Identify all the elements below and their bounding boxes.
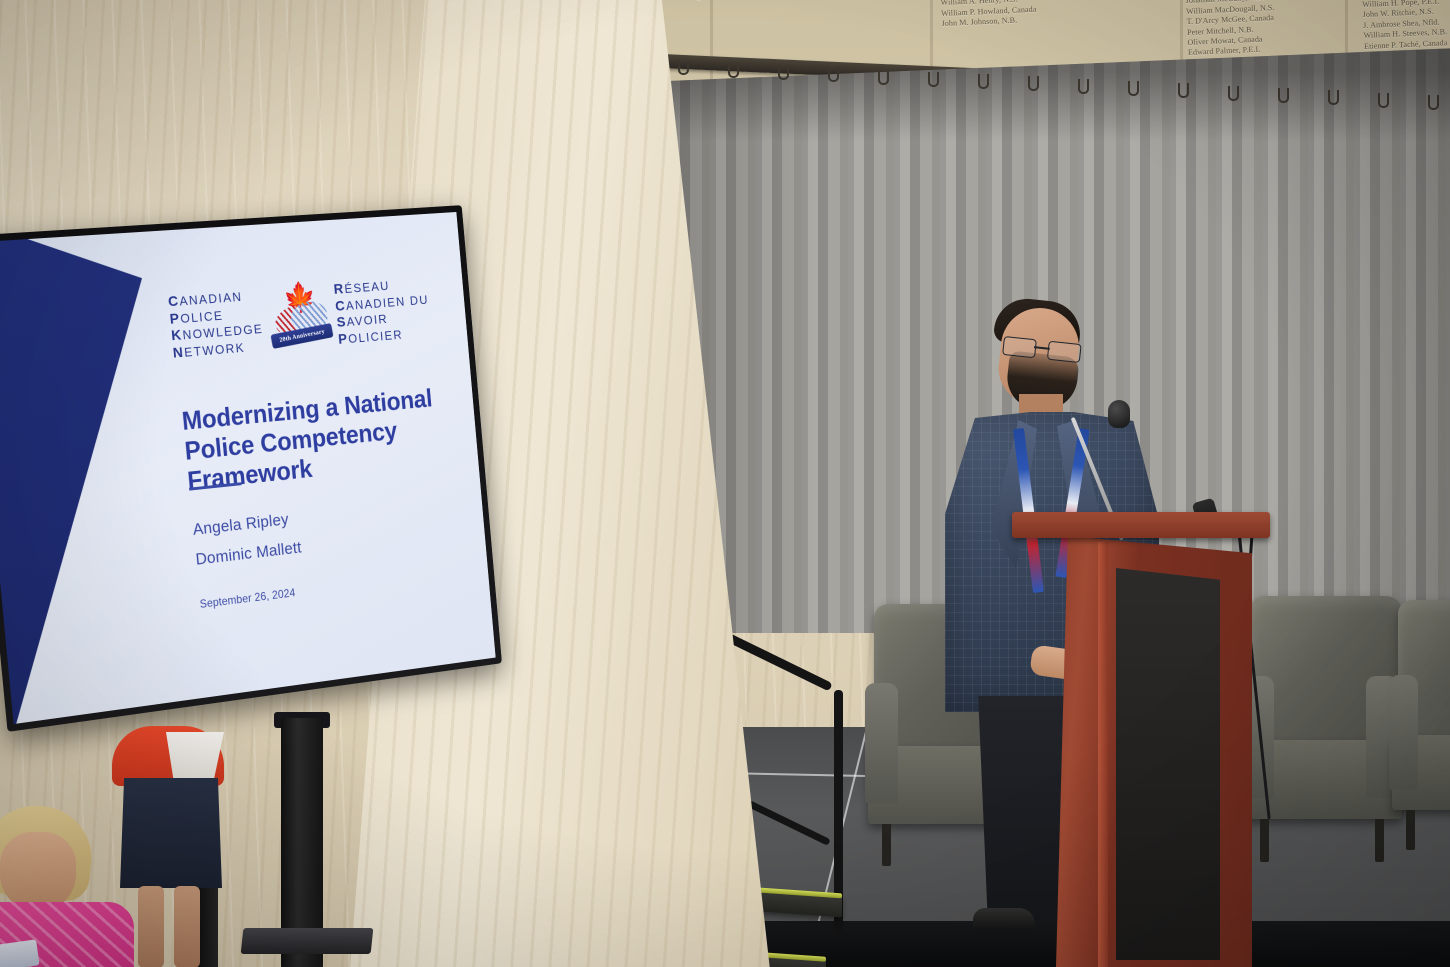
cpkn-logo-lockup: CANADIAN POLICE KNOWLEDGE NETWORK 🍁 20th…	[168, 276, 433, 363]
curtain-hook	[928, 72, 939, 87]
display-stand-shelf	[241, 928, 374, 954]
attendee-leg	[174, 886, 200, 967]
curtain-hook	[1278, 88, 1289, 103]
curtain-hook	[1128, 81, 1139, 96]
presentation-display[interactable]: CANADIAN POLICE KNOWLEDGE NETWORK 🍁 20th…	[0, 205, 502, 732]
wordmark-french: RÉSEAU CANADIEN DU SAVOIR POLICIER	[333, 276, 432, 349]
curtain-hook	[728, 63, 739, 78]
display-bezel: CANADIAN POLICE KNOWLEDGE NETWORK 🍁 20th…	[0, 205, 502, 732]
curtain-hook	[778, 65, 789, 80]
curtain-hook	[1378, 93, 1389, 108]
curtain-hook	[1328, 90, 1339, 105]
curtain-hook	[678, 60, 689, 75]
engraved-names-panel-1: George H. Coles, P. E. I.	[680, 0, 761, 2]
curtain-hook	[1078, 79, 1089, 94]
curtain-hook	[1028, 76, 1039, 91]
attendee-face	[0, 832, 76, 912]
curtain-hook	[1228, 86, 1239, 101]
wordmark-english: CANADIAN POLICE KNOWLEDGE NETWORK	[168, 288, 266, 363]
dress-shoe	[973, 908, 1035, 930]
curtain-hook	[828, 67, 839, 82]
conference-photo-scene: George H. Coles, P. E. I. T. Heath Havil…	[0, 0, 1450, 967]
curtain-hook	[1428, 95, 1439, 110]
anniversary-crest: 🍁 20th Anniversary	[268, 283, 330, 354]
curtain-hook	[1178, 83, 1189, 98]
attendee-leg	[138, 886, 164, 967]
slide-title: Modernizing a National Police Competency…	[181, 383, 451, 497]
foreground-attendee	[0, 806, 124, 967]
curtain-hook	[878, 70, 889, 85]
name-badge	[0, 939, 40, 967]
podium-edge	[1098, 542, 1108, 967]
engraved-names-panel-3: John A. Macdonald, P.E.I.Jonathan McCull…	[1185, 0, 1277, 59]
presentation-slide: CANADIAN POLICE KNOWLEDGE NETWORK 🍁 20th…	[0, 212, 496, 724]
armchair	[1392, 600, 1450, 850]
attendee-skirt	[120, 778, 222, 888]
curtain-hook	[978, 74, 989, 89]
microphone-windscreen-icon	[1108, 400, 1130, 428]
podium	[1028, 512, 1268, 967]
engraved-names-panel-2: T. Heath Haviland, P.E.I.William A. Henr…	[940, 0, 1037, 30]
slide-date: September 26, 2024	[199, 587, 296, 611]
podium-front-panel	[1116, 568, 1220, 960]
podium-top-surface	[1012, 512, 1270, 538]
